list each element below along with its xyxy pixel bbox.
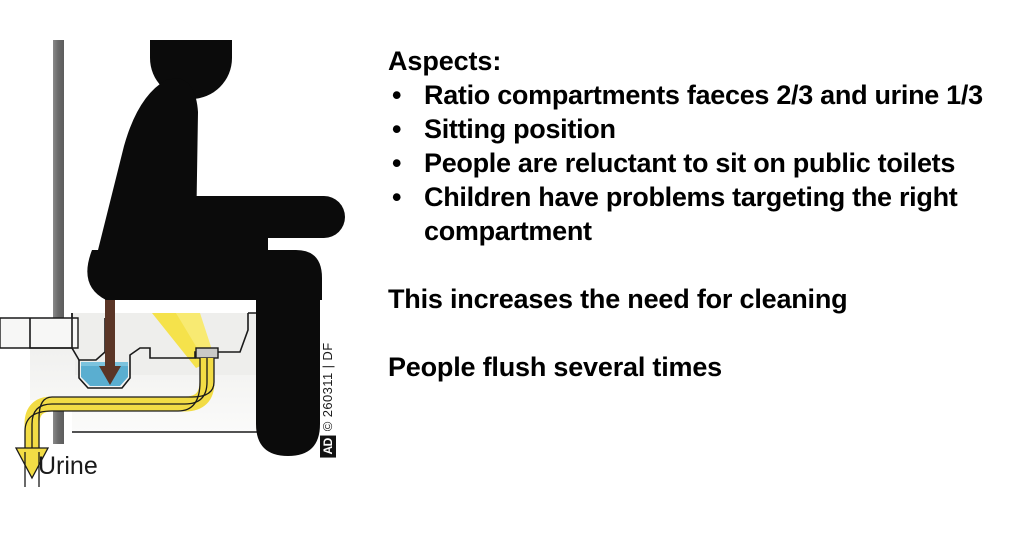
list-item: • Sitting position xyxy=(388,112,1004,146)
statement-flush: People flush several times xyxy=(388,350,1004,384)
water-surface xyxy=(81,362,128,366)
list-item: • Children have problems targeting the r… xyxy=(388,180,1004,248)
credit-logo: AD xyxy=(320,435,336,457)
bullet-glyph-icon: • xyxy=(392,180,401,214)
aspects-bullet-list: • Ratio compartments faeces 2/3 and urin… xyxy=(388,78,1004,248)
credit-text: © 260311 | DF xyxy=(320,342,335,431)
toilet-illustration-svg: Urine xyxy=(0,0,370,535)
list-item: • People are reluctant to sit on public … xyxy=(388,146,1004,180)
bullet-glyph-icon: • xyxy=(392,146,401,180)
faeces-stream xyxy=(105,290,115,368)
content-spacer xyxy=(388,248,1004,282)
person-arm xyxy=(186,196,345,238)
list-item-label: People are reluctant to sit on public to… xyxy=(424,148,955,178)
person-lower-leg xyxy=(256,276,320,456)
bullet-glyph-icon: • xyxy=(392,112,401,146)
bullet-glyph-icon: • xyxy=(392,78,401,112)
slide-canvas: Urine AD© 260311 | DF Aspects: • Ratio c… xyxy=(0,0,1024,535)
list-item-label: Ratio compartments faeces 2/3 and urine … xyxy=(424,80,983,110)
urine-label: Urine xyxy=(38,452,98,480)
statement-cleaning: This increases the need for cleaning xyxy=(388,282,1004,316)
list-item-label: Children have problems targeting the rig… xyxy=(424,182,957,246)
left-shelf xyxy=(0,318,78,348)
content-spacer xyxy=(388,316,1004,350)
content-text-column: Aspects: • Ratio compartments faeces 2/3… xyxy=(388,44,1004,384)
content-heading: Aspects: xyxy=(388,44,1004,78)
toilet-illustration: Urine AD© 260311 | DF xyxy=(0,0,370,535)
list-item: • Ratio compartments faeces 2/3 and urin… xyxy=(388,78,1004,112)
urine-outlet-collar xyxy=(196,348,218,358)
list-item-label: Sitting position xyxy=(424,114,616,144)
image-credit: AD© 260311 | DF xyxy=(318,330,338,470)
